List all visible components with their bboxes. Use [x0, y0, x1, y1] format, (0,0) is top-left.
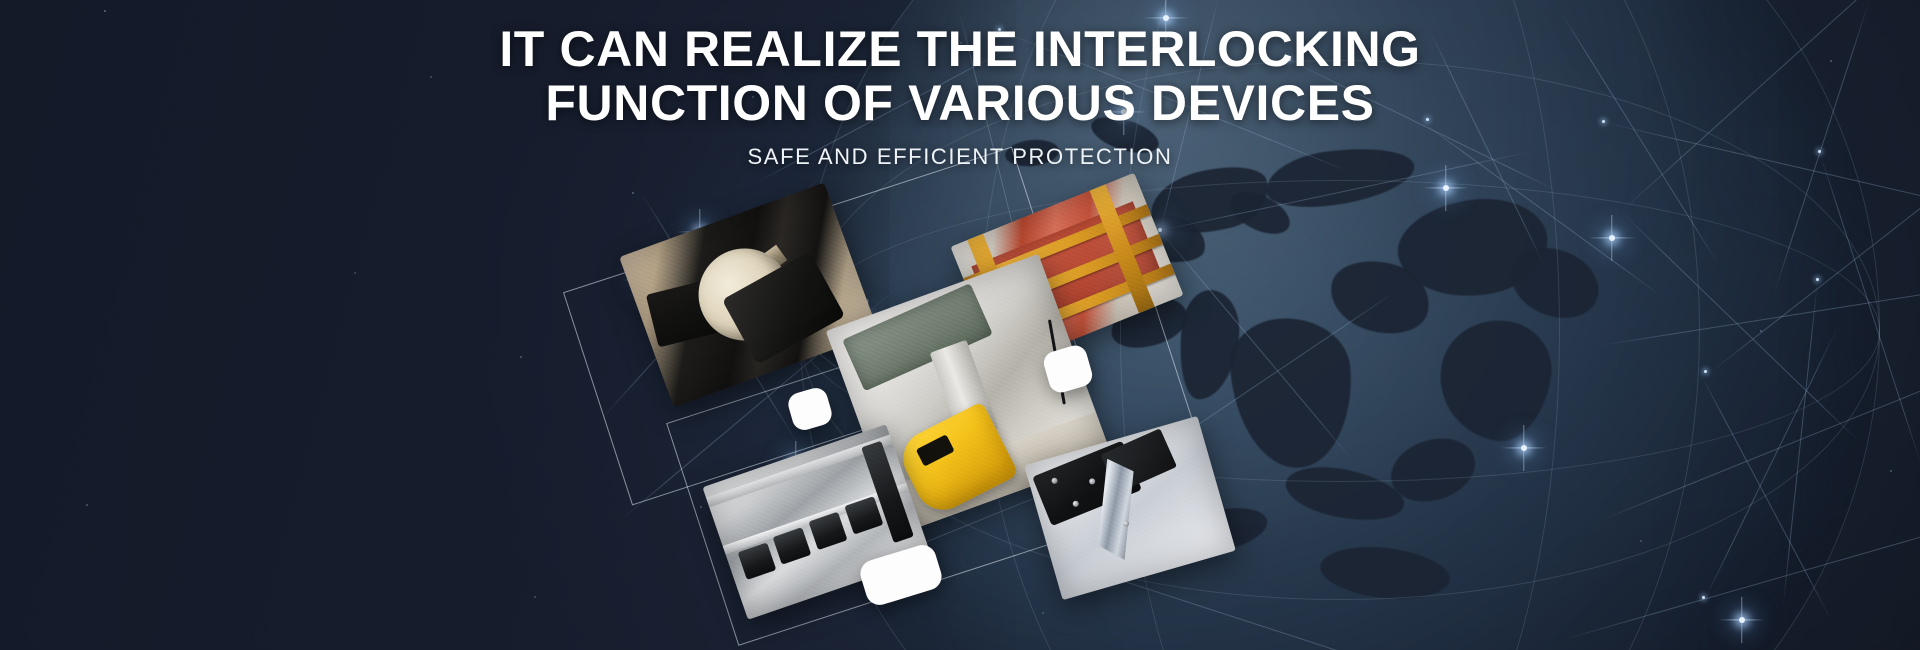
- product-collage: [0, 0, 1920, 650]
- hero-banner: IT CAN REALIZE THE INTERLOCKING FUNCTION…: [0, 0, 1920, 650]
